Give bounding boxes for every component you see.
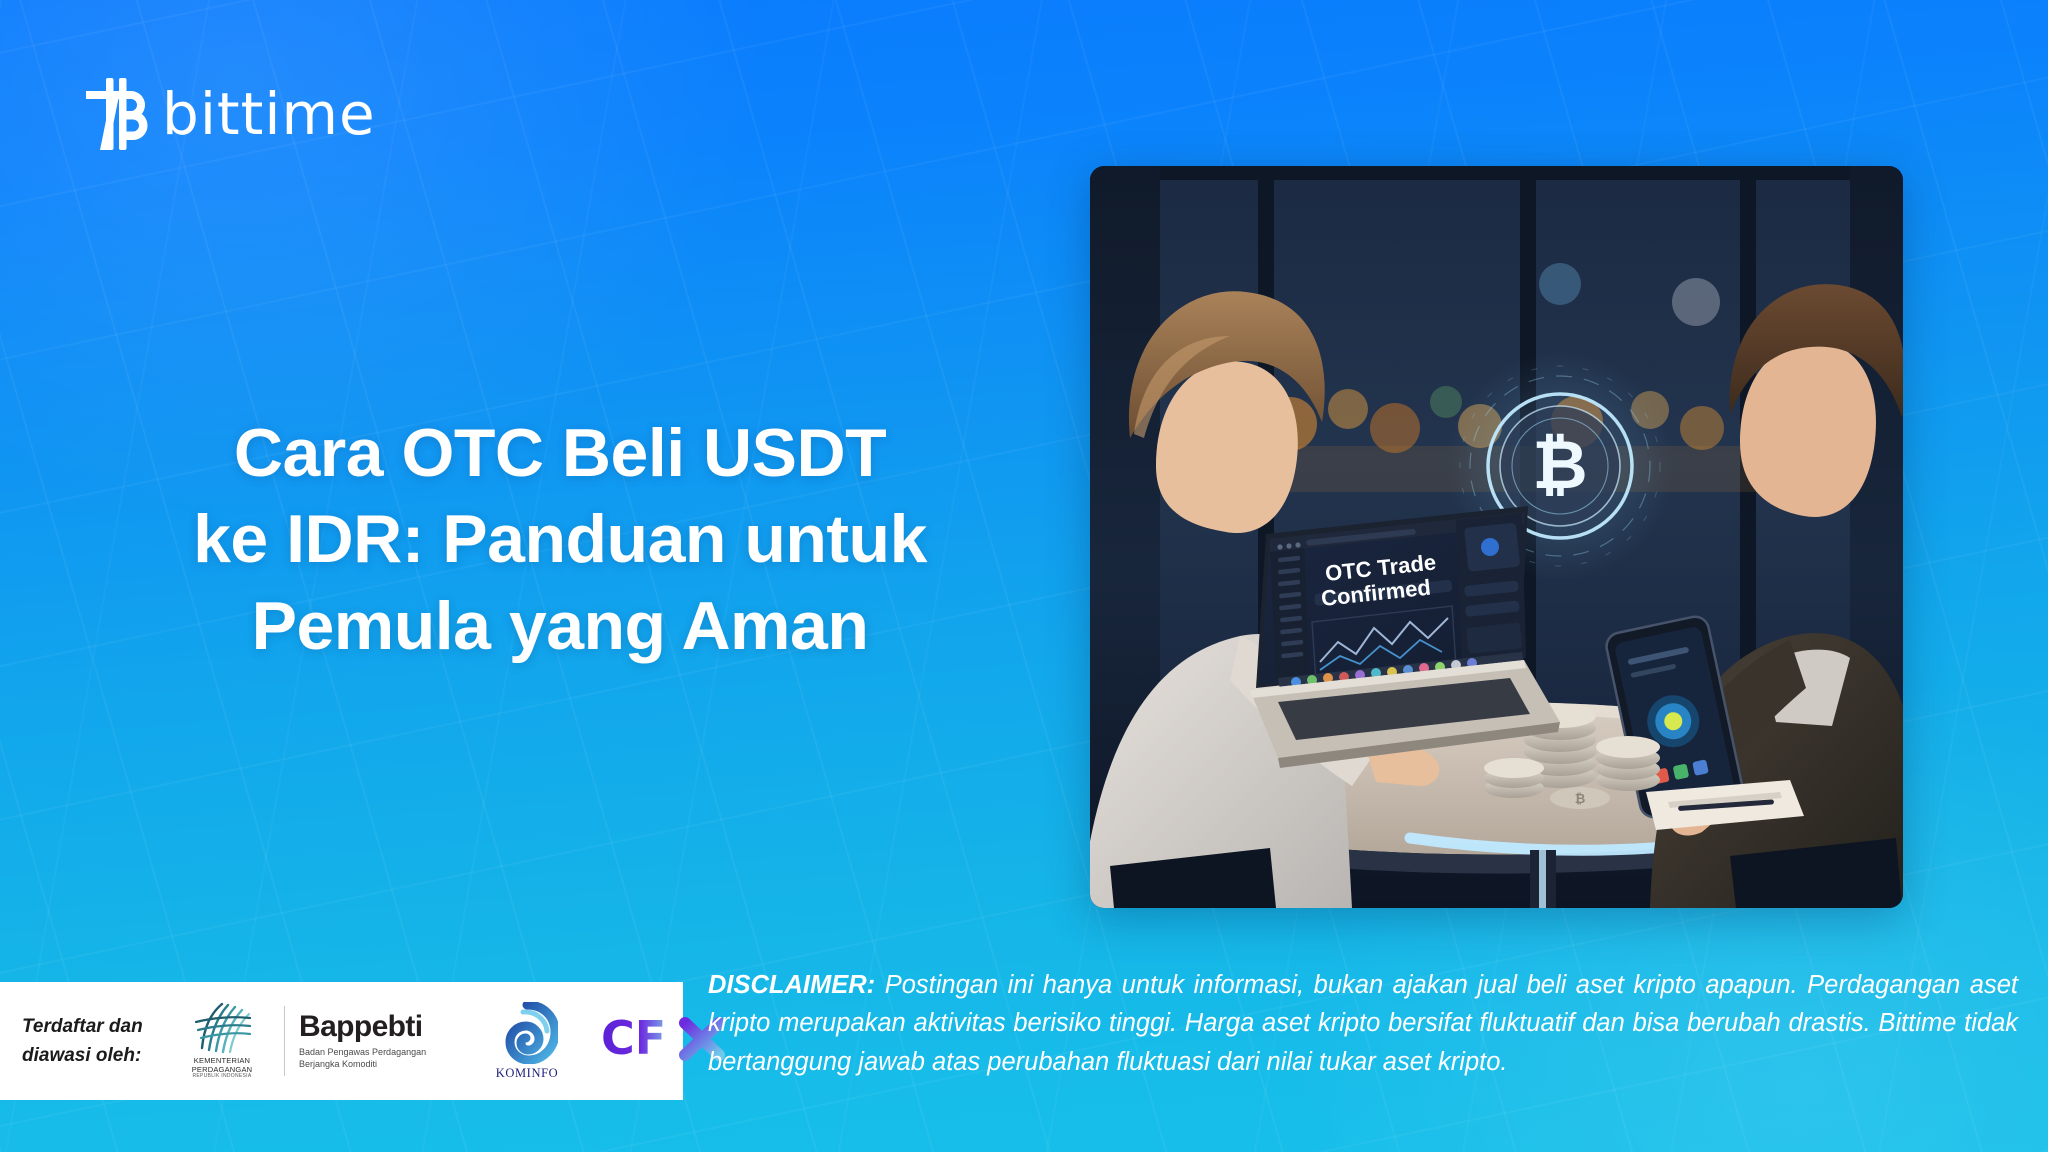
kominfo-badge: KOMINFO (475, 1002, 579, 1081)
hero-image: ₿ (1090, 166, 1903, 908)
bappebti-subtitle-line-1: Badan Pengawas Perdagangan (299, 1047, 465, 1059)
disclaimer-lead: DISCLAIMER: (708, 971, 875, 999)
bappebti-subtitle: Badan Pengawas Perdagangan Berjangka Kom… (299, 1047, 465, 1070)
registered-by-label: Terdaftar dan diawasi oleh: (22, 1012, 174, 1071)
bappebti-title: Bappebti (299, 1012, 465, 1042)
regulator-badge-bar: Terdaftar dan diawasi oleh: KEMENTERIAN (0, 982, 683, 1100)
promo-banner: bittime Cara OTC Beli USDT ke IDR: Pandu… (0, 0, 2048, 1152)
kementerian-perdagangan-logo-icon (192, 1002, 252, 1054)
page-title: Cara OTC Beli USDT ke IDR: Panduan untuk… (60, 410, 1060, 669)
kemendag-badge: KEMENTERIAN PERDAGANGAN REPUBLIK INDONES… (174, 1002, 270, 1081)
svg-text:CF: CF (601, 1011, 666, 1065)
page-title-line-2: ke IDR: Panduan untuk (60, 496, 1060, 582)
hero-image-illustration: ₿ (1090, 166, 1903, 908)
bappebti-badge: Bappebti Badan Pengawas Perdagangan Berj… (299, 1012, 465, 1070)
kominfo-label: KOMINFO (496, 1066, 559, 1081)
registered-by-line-1: Terdaftar dan (22, 1012, 174, 1041)
bittime-logo[interactable]: bittime (86, 78, 376, 150)
kemendag-label-line-3: REPUBLIK INDONESIA (192, 1074, 253, 1080)
kemendag-label: KEMENTERIAN PERDAGANGAN REPUBLIK INDONES… (192, 1057, 253, 1081)
bittime-b-mark-icon (86, 78, 148, 150)
disclaimer-text: DISCLAIMER: Postingan ini hanya untuk in… (708, 966, 2018, 1081)
bappebti-subtitle-line-2: Berjangka Komoditi (299, 1059, 465, 1071)
registered-by-line-2: diawasi oleh: (22, 1041, 174, 1070)
page-title-line-3: Pemula yang Aman (60, 583, 1060, 669)
kominfo-logo-icon (496, 1002, 558, 1064)
bittime-wordmark: bittime (162, 85, 376, 143)
page-title-line-1: Cara OTC Beli USDT (60, 410, 1060, 496)
disclaimer-body: Postingan ini hanya untuk informasi, buk… (708, 971, 2018, 1076)
badge-divider (284, 1006, 285, 1076)
